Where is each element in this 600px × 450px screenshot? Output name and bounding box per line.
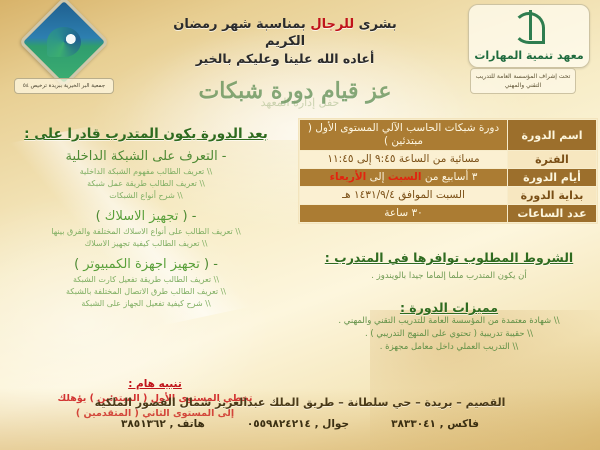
charity-logo-caption: جمعية البر الخيرية ببريدة ترخيص ٥٤ xyxy=(14,78,114,94)
table-row: بداية الدورة السبت الموافق ١٤٣١/٩/٤ هـ xyxy=(300,187,597,205)
headline-highlight: للرجال xyxy=(310,17,354,32)
objective-heading: - التعرف على الشبكة الداخلية xyxy=(0,149,292,164)
conditions-title: الشروط المطلوب توافرها في المتدرب : xyxy=(300,250,598,265)
institute-logo: معهد تنمية المهارات xyxy=(468,4,590,68)
table-row: أيام الدورة ٣ أسابيع من السبت إلى الأربع… xyxy=(300,169,597,187)
objective-heading: - ( تجهيز اجهزة الكمبيوتر ) xyxy=(0,257,292,272)
table-row: عدد الساعات ٣٠ ساعة xyxy=(300,205,597,223)
objective-item: تعريف الطالب طرق الاتصال المختلفة بالشبك… xyxy=(0,286,292,298)
fax-number: فاكس , ٣٨٣٣٠٤١ xyxy=(391,418,479,430)
feature-item: شهادة معتمدة من المؤسسة العامة للتدريب ا… xyxy=(300,315,598,328)
charity-diamond-icon xyxy=(19,0,110,87)
contact-row: فاكس , ٣٨٣٣٠٤١ جوال , ٠٥٥٩٨٢٤٢١٤ هاتف , … xyxy=(0,418,600,430)
row-value: ٣ أسابيع من السبت إلى الأربعاء xyxy=(300,169,508,187)
heading-highlight: تجهيز اجهزة الكمبيوتر xyxy=(83,257,200,272)
table-row: اسم الدورة دورة شبكات الحاسب الآلي المست… xyxy=(300,120,597,151)
phone-number: هاتف , ٣٨٥١٣٦٢ xyxy=(121,418,205,430)
row-label: اسم الدورة xyxy=(508,120,597,151)
headline-subline: أعاده الله علينا وعليكم بالخير xyxy=(160,50,410,67)
heading-pre: - ( xyxy=(178,209,196,224)
footer-band: القصيم – بريدة – حي سلطانة – طريق الملك … xyxy=(0,388,600,450)
header-band: جمعية البر الخيرية ببريدة ترخيص ٥٤ بشرى … xyxy=(0,0,600,112)
conditions-section: الشروط المطلوب توافرها في المتدرب : أن ي… xyxy=(300,250,598,281)
objective-item: شرح كيفية تفعيل الجهاز على الشبكة xyxy=(0,298,292,310)
objectives-title: بعد الدورة يكون المتدرب قادرا على : xyxy=(0,126,292,142)
row-label: عدد الساعات xyxy=(508,205,597,223)
headline-pre: بشرى xyxy=(354,17,397,32)
value-mid: إلى xyxy=(366,171,388,183)
feature-item: التدريب العملي داخل معامل مجهزة . xyxy=(300,341,598,354)
row-value: ٣٠ ساعة xyxy=(300,205,508,223)
headline-post: بمناسبة شهر رمضان الكريم xyxy=(173,17,310,49)
page-title: بشرى للرجال بمناسبة شهر رمضان الكريم أعا… xyxy=(160,16,410,67)
objectives-section: بعد الدورة يكون المتدرب قادرا على : - ال… xyxy=(0,126,300,310)
institute-mark-icon xyxy=(509,10,549,40)
address-line: القصيم – بريدة – حي سلطانة – طريق الملك … xyxy=(0,396,600,409)
calligraphy-subtext: حفل إدارة المعهد xyxy=(150,96,450,114)
objective-item: تعريف الطالب طريقة عمل شبكة xyxy=(0,178,292,190)
features-title: مميزات الدورة : xyxy=(300,300,598,315)
poster-canvas: جمعية البر الخيرية ببريدة ترخيص ٥٤ بشرى … xyxy=(0,0,600,450)
row-value: السبت الموافق ١٤٣١/٩/٤ هـ xyxy=(300,187,508,205)
heading-highlight: تجهيز الاسلاك xyxy=(105,209,179,224)
row-label: بداية الدورة xyxy=(508,187,597,205)
row-label: الفترة xyxy=(508,151,597,169)
features-section: مميزات الدورة : شهادة معتمدة من المؤسسة … xyxy=(300,300,598,354)
course-info-table: اسم الدورة دورة شبكات الحاسب الآلي المست… xyxy=(298,118,598,224)
institute-name: معهد تنمية المهارات xyxy=(469,49,589,62)
heading-post: ) xyxy=(74,257,83,272)
value-day-start: السبت xyxy=(388,171,422,183)
objective-item: تعريف الطالب مفهوم الشبكة الداخلية xyxy=(0,166,292,178)
institute-supervision-note: تحت إشراف المؤسسة العامة للتدريب التقني … xyxy=(470,68,576,94)
heading-post: ) xyxy=(96,209,105,224)
row-value: مسائية من الساعة ٩:٤٥ إلى ١١:٤٥ xyxy=(300,151,508,169)
feature-item: حقيبة تدريبية ( تحتوي على المنهج التدريب… xyxy=(300,328,598,341)
objective-item: شرح أنواع الشبكات xyxy=(0,190,292,202)
value-day-end: الأربعاء xyxy=(330,171,367,183)
conditions-item: أن يكون المتدرب ملما إلماما جيدا بالويند… xyxy=(300,271,598,281)
heading-pre: - ( xyxy=(200,257,218,272)
value-pre: ٣ أسابيع من xyxy=(421,171,477,183)
objective-item: تعريف الطالب طريقة تفعيل كارت الشبكة xyxy=(0,274,292,286)
mobile-number: جوال , ٠٥٥٩٨٢٤٢١٤ xyxy=(247,418,349,430)
objective-heading: - ( تجهيز الاسلاك ) xyxy=(0,209,292,224)
objective-item: تعريف الطالب كيفية تجهيز الاسلاك xyxy=(0,238,292,250)
objective-item: تعريف الطالب على أنواع الاسلاك المختلفة … xyxy=(0,226,292,238)
table-row: الفترة مسائية من الساعة ٩:٤٥ إلى ١١:٤٥ xyxy=(300,151,597,169)
row-label: أيام الدورة xyxy=(508,169,597,187)
row-value: دورة شبكات الحاسب الآلي المستوى الأول ( … xyxy=(300,120,508,151)
charity-logo: جمعية البر الخيرية ببريدة ترخيص ٥٤ xyxy=(14,6,110,110)
